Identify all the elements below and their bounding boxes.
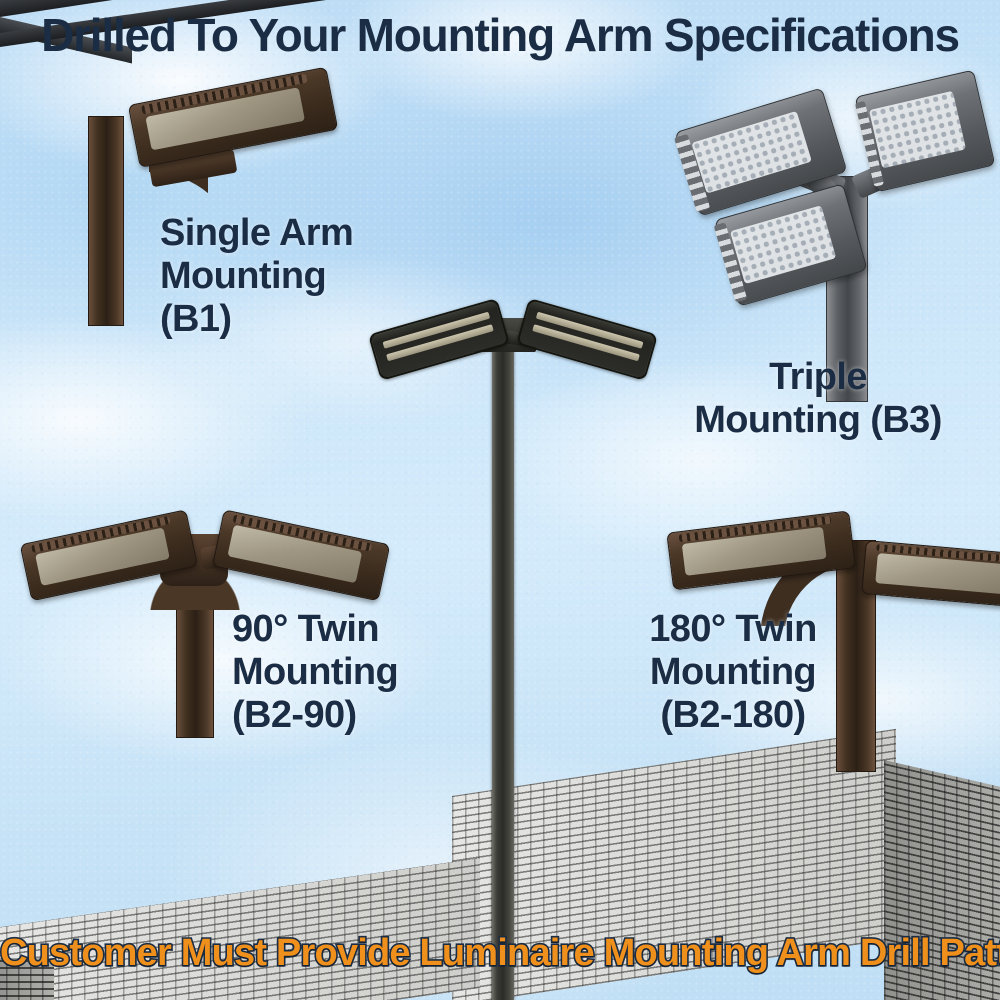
label-line: (B1) — [160, 298, 410, 341]
footer-notice: Customer Must Provide Luminaire Mounting… — [0, 932, 1000, 975]
label-line: Triple — [640, 356, 996, 399]
label-line: 90° Twin — [232, 608, 462, 651]
center-photo-pole — [492, 338, 514, 1000]
label-line: (B2-90) — [232, 694, 462, 737]
label-line: Mounting (B3) — [640, 399, 996, 442]
label-line: (B2-180) — [608, 694, 858, 737]
label-180-twin-mounting: 180° Twin Mounting (B2-180) — [608, 608, 858, 737]
led-array — [691, 111, 811, 194]
label-line: 180° Twin — [608, 608, 858, 651]
led-array — [729, 205, 835, 284]
label-single-arm-mounting: Single Arm Mounting (B1) — [160, 212, 410, 341]
label-line: Mounting — [160, 255, 410, 298]
page-title: Drilled To Your Mounting Arm Specificati… — [0, 8, 1000, 62]
led-array — [869, 91, 967, 168]
label-line: Mounting — [232, 651, 462, 694]
label-line: Mounting — [608, 651, 858, 694]
label-90-twin-mounting: 90° Twin Mounting (B2-90) — [232, 608, 462, 737]
label-triple-mounting: Triple Mounting (B3) — [640, 356, 996, 442]
poster-canvas: Drilled To Your Mounting Arm Specificati… — [0, 0, 1000, 1000]
label-line: Single Arm — [160, 212, 410, 255]
